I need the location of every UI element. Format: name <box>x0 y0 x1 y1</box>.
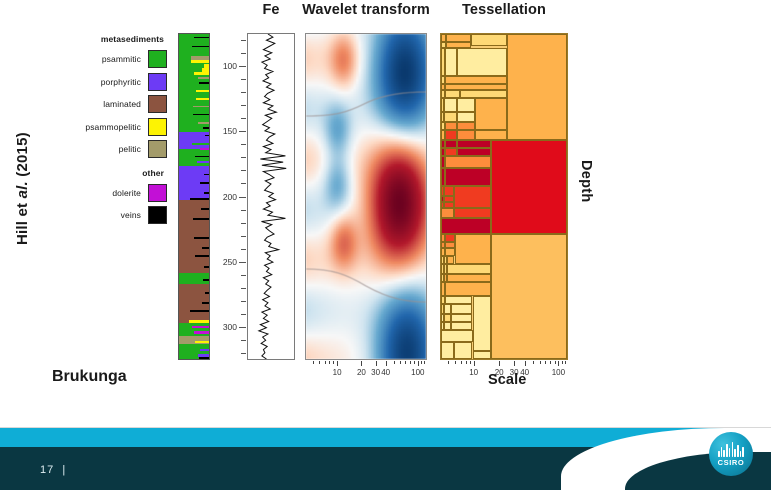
citation-year: (2015) <box>14 132 31 181</box>
tessellation-tile <box>444 314 452 322</box>
tessellation-tile <box>457 122 475 130</box>
depth-tick <box>241 301 246 302</box>
depth-tick <box>241 236 246 237</box>
scale-tick <box>558 361 559 366</box>
csiro-logo-text: CSIRO <box>718 458 745 467</box>
slide-canvas: Hill et al. (2015) metasediments psammit… <box>0 0 771 490</box>
lithology-streak <box>200 182 210 184</box>
scale-tick <box>550 361 551 364</box>
page-number: 17 | <box>40 464 66 476</box>
tessellation-tile <box>441 208 454 218</box>
scale-tick <box>466 361 467 364</box>
scale-tick <box>525 361 526 366</box>
scale-tick <box>555 361 556 364</box>
lithology-streak <box>199 82 209 84</box>
fe-log-panel <box>247 33 295 360</box>
tessellation-tile <box>444 186 454 196</box>
depth-tick <box>241 170 246 171</box>
scale-axis-title: Scale <box>488 372 526 388</box>
lithology-streak <box>194 237 210 239</box>
scale-tick-label: 30 <box>371 368 380 377</box>
tessellation-tile <box>444 112 458 122</box>
scale-tick-label: 100 <box>552 368 565 377</box>
tessellation-tile <box>457 148 491 156</box>
legend-label: porphyritic <box>101 77 148 87</box>
scale-tick <box>329 361 330 364</box>
lithology-streak <box>193 218 210 220</box>
tessellation-tile <box>441 330 473 342</box>
scale-tick <box>319 361 320 364</box>
scale-tick <box>514 361 515 366</box>
tessellation-tile <box>441 342 454 359</box>
tessellation-tile <box>445 248 455 256</box>
lithology-streak <box>199 357 209 359</box>
tessellation-tile <box>475 98 507 130</box>
lithology-streak <box>202 247 209 249</box>
tessellation-tile <box>446 34 471 42</box>
legend-label: psammitic <box>102 54 148 64</box>
tessellation-tile <box>447 256 453 264</box>
tessellation-tile <box>451 304 472 314</box>
scale-tick <box>361 361 362 366</box>
panel-title-fe: Fe <box>247 2 295 18</box>
scale-tick <box>386 361 387 366</box>
depth-tick <box>239 197 246 198</box>
scale-tick <box>414 361 415 364</box>
depth-tick <box>241 210 246 211</box>
legend-item-pelitic: pelitic <box>62 138 167 161</box>
depth-axis: 100150200250300 <box>216 33 246 360</box>
lithology-streak <box>190 198 209 201</box>
lithology-streak <box>196 98 209 100</box>
tessellation-tile <box>451 314 472 322</box>
lithology-streak <box>191 60 210 63</box>
scale-tick <box>533 361 534 364</box>
scale-tick-label: 100 <box>411 368 424 377</box>
depth-tick <box>239 66 246 67</box>
depth-tick <box>241 105 246 106</box>
depth-tick-label: 100 <box>223 61 237 71</box>
tessellation-tile <box>454 186 492 208</box>
depth-tick <box>239 327 246 328</box>
legend-swatch-veins <box>148 206 167 224</box>
scale-tick <box>470 361 471 364</box>
legend-group-metasediments: metasediments <box>62 34 167 44</box>
tessellation-tile <box>491 140 567 234</box>
tessellation-tile <box>445 296 473 304</box>
lithology-streak <box>205 135 209 137</box>
csiro-logo: CSIRO <box>709 432 753 476</box>
scale-tick-label: 20 <box>357 368 366 377</box>
citation-text: Hill et <box>14 198 31 245</box>
tessellation-tile <box>447 274 491 282</box>
panel-title-tessellation: Tessellation <box>438 2 570 18</box>
depth-tick-label: 200 <box>223 192 237 202</box>
tessellation-tile <box>457 140 491 148</box>
tessellation-tile <box>445 90 460 98</box>
fe-log-curve <box>248 34 294 359</box>
tessellation-tile <box>457 98 475 112</box>
lithology-streak <box>195 255 209 257</box>
lithology-streak <box>201 208 209 210</box>
depth-tick-label: 150 <box>223 126 237 136</box>
scale-tick <box>400 361 401 364</box>
legend-label: dolerite <box>112 188 148 198</box>
legend-label: psammopelitic <box>85 122 148 132</box>
scale-tick <box>461 361 462 364</box>
tessellation-tile <box>444 98 458 112</box>
scale-tick <box>405 361 406 364</box>
depth-tick <box>239 131 246 132</box>
depth-tick <box>241 314 246 315</box>
tessellation-tile <box>455 234 492 264</box>
lithology-legend: metasediments psammitic porphyritic lami… <box>62 34 167 227</box>
lithology-streak <box>198 122 210 124</box>
legend-swatch-pelitic <box>148 140 167 158</box>
page-number-value: 17 <box>40 464 54 476</box>
scale-tick <box>562 361 563 364</box>
tessellation-tile <box>444 304 452 314</box>
scale-tick <box>325 361 326 364</box>
lithology-streak <box>200 148 209 150</box>
scale-tick <box>376 361 377 366</box>
tessellation-tile <box>454 208 492 218</box>
wavelet-heatmap <box>306 34 426 359</box>
legend-item-porphyritic: porphyritic <box>62 71 167 94</box>
tessellation-tile <box>475 130 507 140</box>
depth-tick-label: 300 <box>223 322 237 332</box>
legend-swatch-dolerite <box>148 184 167 202</box>
depth-tick-label: 250 <box>223 257 237 267</box>
depth-tick <box>241 144 246 145</box>
depth-tick <box>241 288 246 289</box>
tessellation-tile <box>445 148 458 156</box>
scale-tick <box>545 361 546 364</box>
depth-tick <box>239 262 246 263</box>
legend-item-dolerite: dolerite <box>62 182 167 205</box>
tessellation-tile <box>444 322 452 330</box>
scale-tick <box>418 361 419 366</box>
legend-group-other: other <box>62 168 167 178</box>
lithology-streak <box>197 161 209 163</box>
lithology-streak <box>204 266 209 268</box>
tessellation-panel <box>440 33 568 360</box>
depth-tick <box>241 275 246 276</box>
scale-tick <box>410 361 411 364</box>
scale-tick-label: 10 <box>469 368 478 377</box>
depth-tick <box>241 53 246 54</box>
legend-label: laminated <box>103 99 148 109</box>
depth-tick <box>241 118 246 119</box>
csiro-logo-bars-icon <box>718 442 744 457</box>
tessellation-tile <box>445 282 492 296</box>
legend-item-veins: veins <box>62 204 167 227</box>
tessellation-tile <box>451 322 472 330</box>
scale-tick <box>333 361 334 364</box>
legend-item-laminated: laminated <box>62 93 167 116</box>
lithology-streak <box>194 72 209 75</box>
lithology-streak <box>195 341 209 343</box>
tessellation-tile <box>491 234 567 359</box>
page-separator: | <box>62 464 66 476</box>
tessellation-tile <box>457 48 506 76</box>
lithology-streak <box>194 331 209 334</box>
tessellation-tile <box>454 342 473 359</box>
scale-tick <box>448 361 449 364</box>
legend-swatch-psammitic <box>148 50 167 68</box>
lithology-streak <box>195 156 209 158</box>
scale-tick-label: 10 <box>333 368 342 377</box>
lithology-strip <box>178 33 210 360</box>
scale-tick <box>337 361 338 366</box>
lithology-streak <box>192 326 209 328</box>
lithology-streak <box>193 114 209 116</box>
tessellation-tile <box>445 156 492 168</box>
tessellation-tile <box>445 140 458 148</box>
scale-tick <box>424 361 425 364</box>
tessellation-tile <box>507 34 567 140</box>
scale-tick <box>499 361 500 366</box>
lithology-streak <box>204 174 209 176</box>
depth-tick <box>241 92 246 93</box>
tessellation-tile <box>457 112 475 122</box>
depth-tick <box>241 183 246 184</box>
lithology-streak <box>192 46 209 47</box>
scale-tick <box>540 361 541 364</box>
lithology-streak <box>194 37 209 39</box>
depth-tick <box>241 249 246 250</box>
lithology-streak <box>197 226 209 228</box>
lithology-streak <box>193 106 209 108</box>
tessellation-tile <box>445 76 507 84</box>
depth-tick <box>241 40 246 41</box>
depth-axis-title: Depth <box>578 160 594 203</box>
tessellation-tile <box>460 90 507 98</box>
depth-tick <box>241 79 246 80</box>
depth-tick <box>241 157 246 158</box>
depth-tick <box>241 223 246 224</box>
scale-tick <box>421 361 422 364</box>
lithology-streak <box>189 320 209 323</box>
lithology-streak <box>196 90 209 92</box>
tessellation-tile <box>445 234 455 242</box>
scale-tick <box>313 361 314 364</box>
legend-swatch-porphyritic <box>148 73 167 91</box>
tessellation-tile <box>473 351 492 359</box>
tessellation-tile <box>447 264 491 274</box>
legend-label: pelitic <box>119 144 148 154</box>
legend-swatch-psammopelitic <box>148 118 167 136</box>
tessellation-tile <box>445 130 458 140</box>
lithology-streak <box>200 349 209 351</box>
depth-tick <box>241 353 246 354</box>
lithology-streak <box>203 127 209 129</box>
legend-swatch-laminated <box>148 95 167 113</box>
wavelet-scale-axis: 10203040100 <box>305 361 427 379</box>
site-label: Brukunga <box>52 368 127 386</box>
wavelet-transform-panel <box>305 33 427 360</box>
lithology-streak <box>203 279 209 281</box>
lithology-streak <box>192 143 209 145</box>
depth-tick <box>241 340 246 341</box>
scale-tick <box>565 361 566 364</box>
legend-item-psammitic: psammitic <box>62 48 167 71</box>
tessellation-tile <box>445 48 458 76</box>
scale-tick <box>474 361 475 366</box>
scale-tick <box>455 361 456 364</box>
tessellation-tile <box>473 296 492 351</box>
slide-footer: 17 | CSIRO <box>0 428 771 490</box>
tessellation-tile <box>457 130 475 140</box>
citation-italic: al. <box>14 181 31 198</box>
lithology-streak <box>204 192 209 194</box>
lithology-interval <box>179 149 209 166</box>
legend-item-psammopelitic: psammopelitic <box>62 116 167 139</box>
panel-title-wavelet: Wavelet transform <box>295 2 437 18</box>
scale-tick <box>394 361 395 364</box>
lithology-streak <box>198 77 210 79</box>
citation-label: Hill et al. (2015) <box>14 65 31 245</box>
lithology-streak <box>202 302 209 304</box>
lithology-streak <box>190 310 209 312</box>
legend-label: veins <box>121 210 148 220</box>
scale-tick-label: 40 <box>381 368 390 377</box>
lithology-streak <box>205 292 209 294</box>
tessellation-tile <box>445 122 458 130</box>
tessellation-tile <box>441 218 491 234</box>
tessellation-tile <box>445 168 492 186</box>
tessellation-tile <box>471 34 506 46</box>
